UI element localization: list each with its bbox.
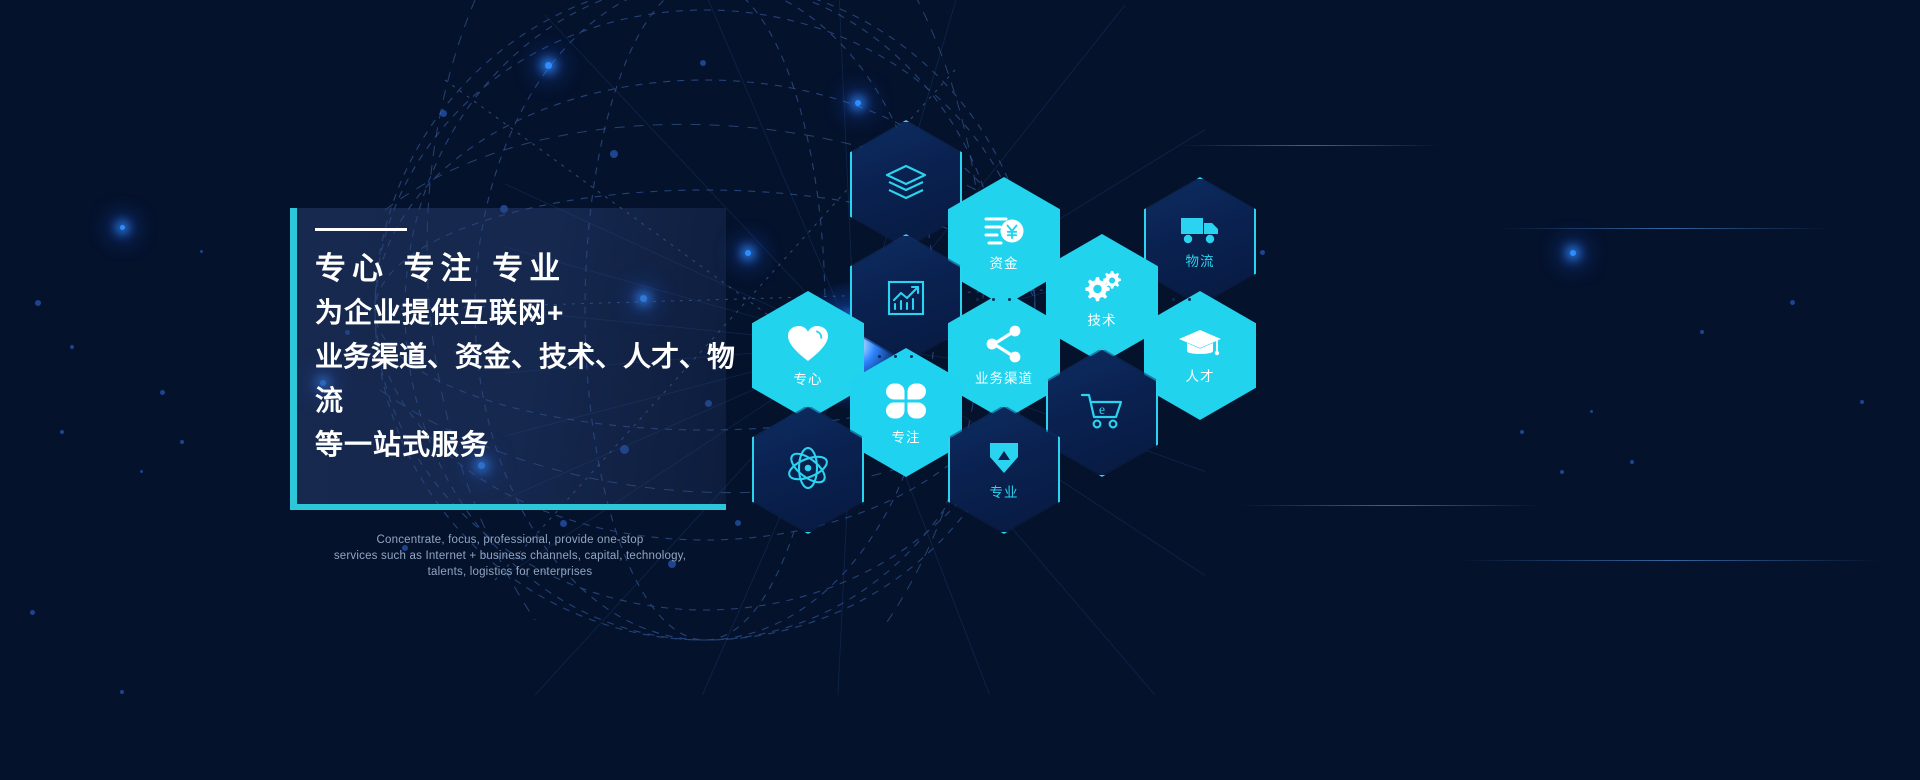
headline-line-3: 业务渠道、资金、技术、人才、物流 [315, 335, 737, 423]
subtitle-line-2: services such as Internet + business cha… [300, 548, 720, 564]
hexagon-zhuanzhu[interactable]: 专注 [850, 348, 962, 477]
headline-line-2: 为企业提供互联网+ [315, 291, 737, 335]
clover-icon [885, 380, 927, 422]
headline-rule [315, 228, 407, 231]
diamond-icon [985, 439, 1023, 477]
layers-icon [884, 163, 928, 203]
banner-hero: 专心 专注 专业 为企业提供互联网+ 业务渠道、资金、技术、人才、物流 等一站式… [0, 0, 1920, 780]
hexagon-label: 技术 [1088, 309, 1117, 329]
subtitle-block: Concentrate, focus, professional, provid… [300, 532, 720, 580]
hexagon-label: 专注 [892, 426, 921, 446]
shopping-cart-e-icon: e [1079, 391, 1125, 431]
hexagon-zhuanxin[interactable]: 专心 [752, 291, 864, 420]
share-network-icon [984, 325, 1024, 363]
hexagon-rencai[interactable]: 人才 [1144, 291, 1256, 420]
hexagon-zijin[interactable]: 资金 [948, 177, 1060, 306]
graduation-cap-icon [1177, 327, 1223, 361]
subtitle-line-1: Concentrate, focus, professional, provid… [300, 532, 720, 548]
money-yen-icon [983, 212, 1025, 248]
hexagon-layers[interactable] [850, 120, 962, 249]
subtitle-line-3: talents, logistics for enterprises [300, 564, 720, 580]
seam-dots-2 [878, 355, 913, 358]
hexagon-label: 业务渠道 [975, 367, 1033, 387]
hexagon-label: 专业 [990, 481, 1019, 501]
gears-icon [1080, 269, 1124, 305]
headline-content: 专心 专注 专业 为企业提供互联网+ 业务渠道、资金、技术、人才、物流 等一站式… [307, 208, 737, 467]
heart-icon [786, 324, 830, 364]
headline-line-1: 专心 专注 专业 [315, 247, 737, 291]
seam-dots-1 [976, 298, 1011, 301]
seam-dots-3 [1172, 298, 1191, 301]
hexagon-wuliu[interactable]: 物流 [1144, 177, 1256, 306]
hexagon-zhuanye[interactable]: 专业 [948, 405, 1060, 534]
hexagon-label: 资金 [990, 252, 1019, 272]
truck-icon [1179, 214, 1221, 246]
hexagon-chart[interactable] [850, 234, 962, 363]
atom-icon [785, 447, 831, 489]
bar-chart-growth-icon [885, 276, 927, 318]
hexagon-label: 专心 [794, 368, 823, 388]
hexagon-jishu[interactable]: 技术 [1046, 234, 1158, 363]
svg-text:e: e [1099, 403, 1105, 418]
hexagon-yewuqudao[interactable]: 业务渠道 [948, 291, 1060, 420]
headline-line-4: 等一站式服务 [315, 423, 737, 467]
hexagon-cart[interactable]: e [1046, 348, 1158, 477]
hexagon-atom[interactable] [752, 405, 864, 534]
hexagon-label: 物流 [1186, 250, 1215, 270]
hexagon-cluster: 资金 物流 [740, 110, 1300, 530]
hexagon-label: 人才 [1186, 365, 1215, 385]
